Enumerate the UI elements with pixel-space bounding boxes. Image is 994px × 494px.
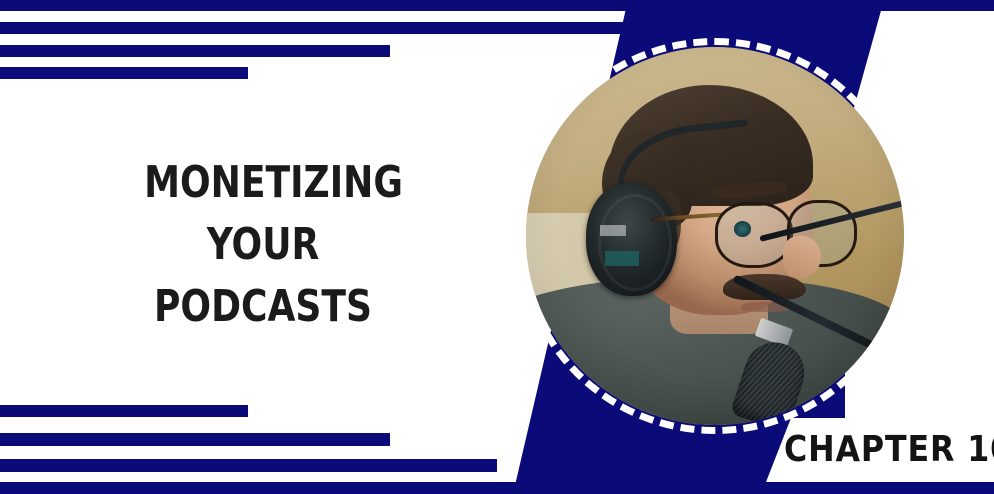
page-title-line-2: YOUR xyxy=(144,214,382,276)
bottom-full-width-bar xyxy=(0,482,994,494)
bottom-deco-bar-3 xyxy=(0,459,497,472)
bottom-deco-bar-2 xyxy=(0,433,390,446)
poster-canvas: MONETIZING YOUR PODCASTS CHAPTER 10 xyxy=(0,0,994,494)
bottom-deco-bar-1 xyxy=(0,405,248,417)
circular-photo-frame xyxy=(517,38,913,434)
page-title-line-3: PODCASTS xyxy=(144,276,382,338)
top-deco-bar-4 xyxy=(0,67,248,79)
photo-vignette xyxy=(526,47,904,425)
top-full-width-bar xyxy=(0,0,994,11)
top-deco-bar-2 xyxy=(0,22,645,34)
top-deco-bar-3 xyxy=(0,45,390,57)
podcaster-photo xyxy=(526,47,904,425)
chapter-label: CHAPTER 10 xyxy=(784,427,994,473)
page-title: MONETIZING YOUR PODCASTS xyxy=(144,152,382,338)
page-title-line-1: MONETIZING xyxy=(144,152,382,214)
